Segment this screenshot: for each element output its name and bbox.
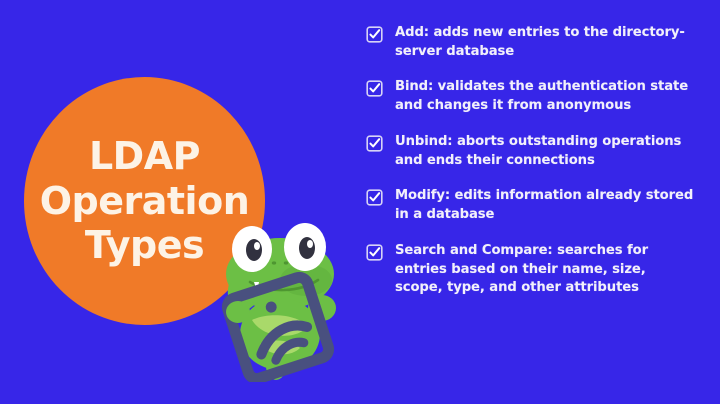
frog-left-eye-glint [254, 242, 260, 250]
list-item[interactable]: Search and Compare: searches for entries… [366, 242, 696, 298]
list-item[interactable]: Add: adds new entries to the directory-s… [366, 24, 696, 61]
frog-mascot [214, 216, 346, 382]
frog-right-eye-glint [307, 240, 313, 248]
list-item[interactable]: Unbind: aborts outstanding operations an… [366, 133, 696, 170]
list-item-label: Search and Compare: searches for entries… [395, 242, 696, 298]
frog-left-nostril [272, 261, 276, 264]
operation-types-checklist: Add: adds new entries to the directory-s… [366, 24, 696, 298]
list-item-label: Bind: validates the authentication state… [395, 78, 696, 115]
list-item-label: Unbind: aborts outstanding operations an… [395, 133, 696, 170]
frog-right-pupil [299, 237, 315, 259]
list-item-label: Modify: edits information already stored… [395, 187, 696, 224]
list-item[interactable]: Bind: validates the authentication state… [366, 78, 696, 115]
frog-left-pupil [246, 239, 262, 261]
frog-left-hand [226, 301, 250, 323]
frog-right-nostril [284, 261, 288, 264]
checkbox-checked-icon[interactable] [366, 244, 383, 261]
checkbox-checked-icon[interactable] [366, 189, 383, 206]
checkbox-checked-icon[interactable] [366, 80, 383, 97]
page-title-line-1: LDAP [40, 134, 250, 178]
checkbox-checked-icon[interactable] [366, 26, 383, 43]
list-item[interactable]: Modify: edits information already stored… [366, 187, 696, 224]
checkbox-checked-icon[interactable] [366, 135, 383, 152]
slide-canvas: LDAP Operation Types [0, 0, 720, 404]
list-item-label: Add: adds new entries to the directory-s… [395, 24, 696, 61]
